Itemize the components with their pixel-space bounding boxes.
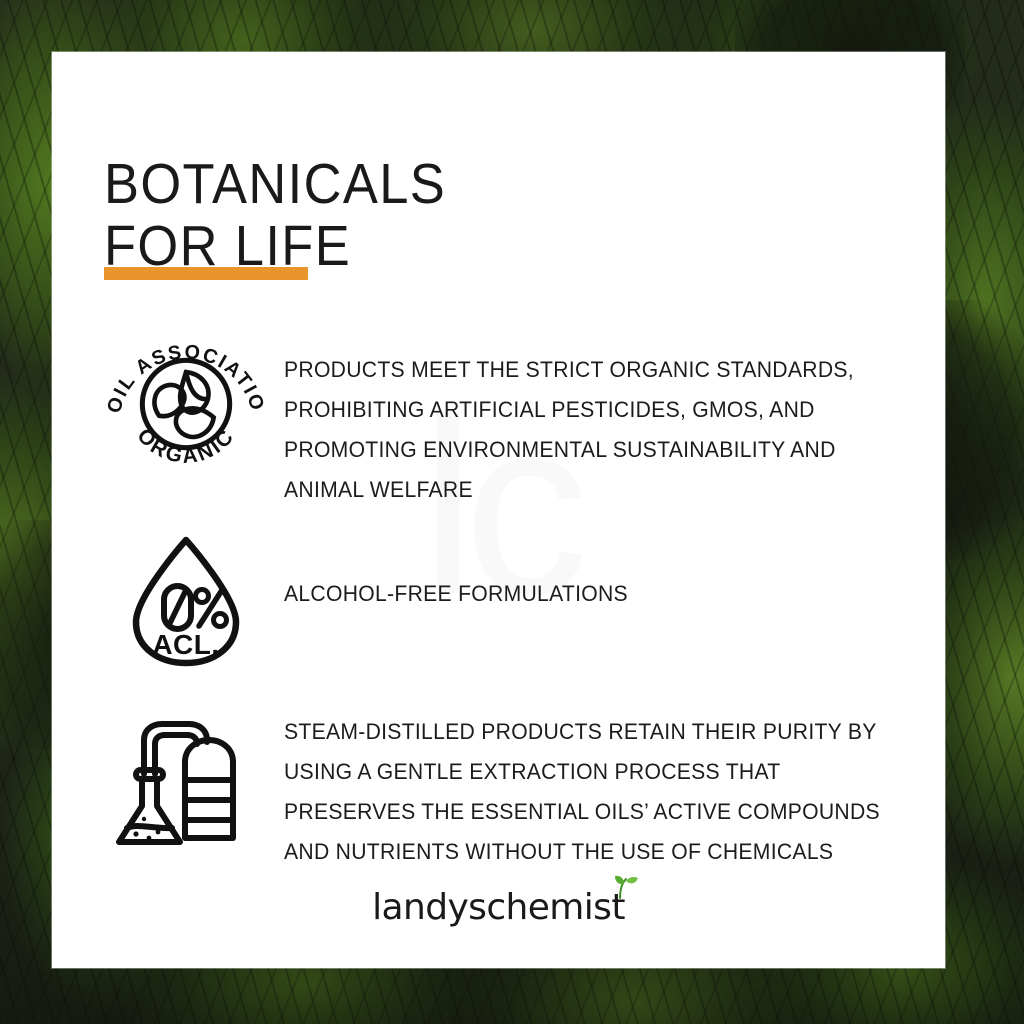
- page-title-line-1: BOTANICALS: [104, 152, 446, 216]
- feature-text-alcohol-free: ALCOHOL-FREE FORMULATIONS: [284, 520, 889, 614]
- feature-row-organic: SOIL ASSOCIATION ORGANIC P: [88, 320, 928, 510]
- promo-graphic: lc BOTANICALS FOR LIFE SOIL ASSOCIATION: [0, 0, 1024, 1024]
- feature-row-alcohol-free: ACL. ALCOHOL-FREE FORMULATIONS: [88, 520, 928, 670]
- leaf-sprig-icon: [609, 873, 639, 899]
- soil-association-organic-logo: SOIL ASSOCIATION ORGANIC: [88, 320, 284, 488]
- page-title: BOTANICALS FOR LIFE: [104, 153, 446, 277]
- brand-name: landyschemist: [372, 887, 625, 928]
- svg-text:ACL.: ACL.: [152, 629, 219, 660]
- title-accent-bar: [104, 267, 308, 280]
- alcohol-free-droplet-icon: ACL.: [88, 520, 284, 670]
- steam-distillation-apparatus-icon: [88, 702, 284, 854]
- feature-text-organic: PRODUCTS MEET THE STRICT ORGANIC STANDAR…: [284, 320, 889, 510]
- feature-text-steam-distilled: STEAM-DISTILLED PRODUCTS RETAIN THEIR PU…: [284, 702, 889, 872]
- content-card: lc BOTANICALS FOR LIFE SOIL ASSOCIATION: [52, 52, 945, 968]
- feature-row-steam-distilled: STEAM-DISTILLED PRODUCTS RETAIN THEIR PU…: [88, 702, 928, 872]
- brand-logo: landyschemist: [52, 890, 945, 926]
